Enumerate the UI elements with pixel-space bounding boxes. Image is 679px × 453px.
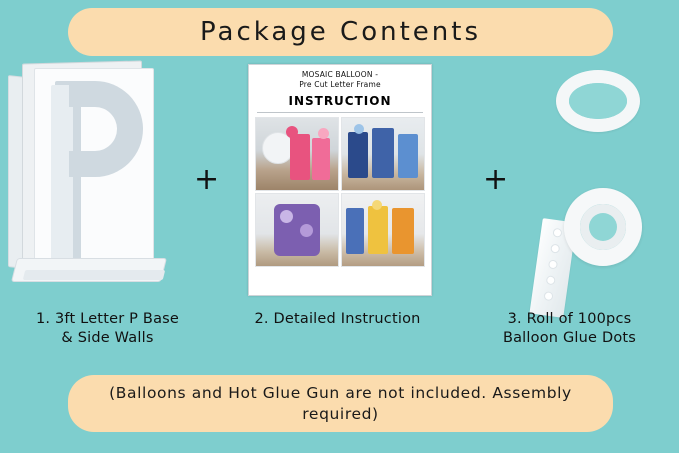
caption-item-2-line-1: 2. Detailed Instruction [225,310,450,329]
letter-p-front-panel [34,68,154,273]
glue-dot-roll-top-hole [569,83,627,119]
balloon-letter-pink-2 [312,138,330,180]
glue-dot [548,259,558,269]
caption-item-1: 1. 3ft Letter P Base & Side Walls [0,310,215,348]
caption-item-3: 3. Roll of 100pcs Balloon Glue Dots [460,310,679,348]
balloon-accent [286,126,298,138]
balloon-accent [318,128,329,139]
balloon-letter-n [392,208,414,254]
balloon-accent [372,200,382,210]
booklet-divider [257,112,423,113]
caption-item-3-line-1: 3. Roll of 100pcs [460,310,679,329]
letter-p-base-shadow [23,270,165,280]
balloon-accent [280,210,293,223]
footer-note: (Balloons and Hot Glue Gun are not inclu… [68,383,613,425]
item-instruction-booklet: MOSAIC BALLOON - Pre Cut Letter Frame IN… [248,64,432,296]
booklet-kicker-line-2: Pre Cut Letter Frame [255,80,425,90]
caption-item-3-line-2: Balloon Glue Dots [460,329,679,348]
photo-balloon-letters-sun [341,193,425,267]
balloon-letter-pink-1 [290,134,310,180]
item-letter-p-stand [8,62,188,290]
package-contents-infographic: Package Contents + MOSAIC BALLOON - Pre … [0,0,679,453]
booklet-kicker-line-1: MOSAIC BALLOON - [255,70,425,80]
letter-p-bowl [69,81,143,177]
glue-dot [552,228,562,238]
glue-dot [546,275,556,285]
plus-icon-1: + [194,165,219,195]
caption-item-1-line-1: 1. 3ft Letter P Base [0,310,215,329]
page-title: Package Contents [200,17,481,47]
balloon-letter-s [346,208,364,254]
caption-item-2: 2. Detailed Instruction [225,310,450,329]
photo-balloon-letter-purple [255,193,339,267]
title-banner: Package Contents [68,8,613,56]
booklet-title: INSTRUCTION [255,94,425,108]
plus-icon-2: + [483,165,508,195]
caption-item-1-line-2: & Side Walls [0,329,215,348]
photo-balloon-letters-pink [255,117,339,191]
photo-balloon-letters-blue [341,117,425,191]
booklet-photo-grid [255,117,425,267]
balloon-letter-u [368,206,388,254]
glue-dot [543,291,553,301]
letter-p-icon [49,81,153,263]
balloon-letter-blue-3 [398,134,418,178]
footer-banner: (Balloons and Hot Glue Gun are not inclu… [68,375,613,432]
balloon-letter-blue-1 [348,132,368,178]
item-glue-dot-roll [520,70,660,290]
balloon-accent [300,224,313,237]
balloon-letter-blue-2 [372,128,394,178]
glue-dot [550,244,560,254]
glue-dot-roll-bottom-hole [589,213,617,241]
balloon-accent [354,124,364,134]
